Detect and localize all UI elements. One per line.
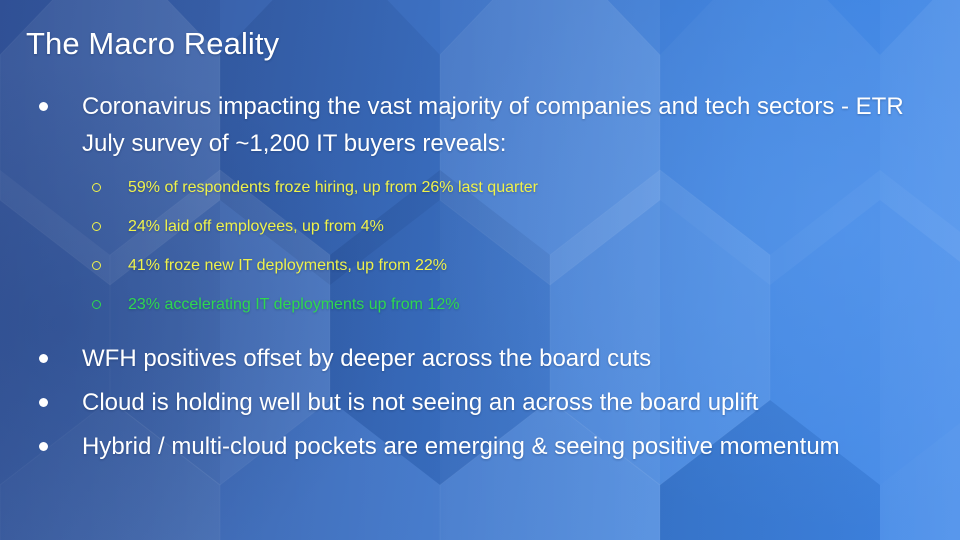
- sub-bullet-item-2: 24% laid off employees, up from 4%: [30, 211, 930, 242]
- sub-bullet-text: 23% accelerating IT deployments up from …: [128, 296, 459, 313]
- sub-bullet-item-1: 59% of respondents froze hiring, up from…: [30, 172, 930, 203]
- sub-bullet-text: 24% laid off employees, up from 4%: [128, 218, 384, 235]
- bullet-text: Cloud is holding well but is not seeing …: [82, 389, 758, 416]
- sub-bullet-ring-icon: [92, 300, 101, 309]
- bullet-dot-icon: [39, 398, 48, 407]
- sub-bullet-ring-icon: [92, 222, 101, 231]
- bullet-item-3: Cloud is holding well but is not seeing …: [30, 384, 930, 421]
- bullet-item-2: WFH positives offset by deeper across th…: [30, 340, 930, 377]
- sub-bullet-item-4: 23% accelerating IT deployments up from …: [30, 289, 930, 320]
- sub-bullet-ring-icon: [92, 261, 101, 270]
- bullet-item-4: Hybrid / multi-cloud pockets are emergin…: [30, 428, 930, 465]
- bullet-dot-icon: [39, 102, 48, 111]
- bullet-list: Coronavirus impacting the vast majority …: [30, 88, 930, 472]
- bullet-dot-icon: [39, 442, 48, 451]
- sub-bullet-ring-icon: [92, 183, 101, 192]
- presentation-slide: The Macro Reality Coronavirus impacting …: [0, 0, 960, 540]
- bullet-dot-icon: [39, 354, 48, 363]
- bullet-text: WFH positives offset by deeper across th…: [82, 345, 651, 372]
- slide-content: The Macro Reality Coronavirus impacting …: [0, 0, 960, 540]
- bullet-text: Coronavirus impacting the vast majority …: [82, 93, 904, 157]
- sub-bullet-list-1: 59% of respondents froze hiring, up from…: [30, 172, 930, 320]
- slide-title: The Macro Reality: [26, 25, 279, 63]
- sub-bullet-item-3: 41% froze new IT deployments, up from 22…: [30, 250, 930, 281]
- sub-bullet-text: 59% of respondents froze hiring, up from…: [128, 179, 538, 196]
- bullet-text: Hybrid / multi-cloud pockets are emergin…: [82, 433, 840, 460]
- sub-bullet-text: 41% froze new IT deployments, up from 22…: [128, 257, 447, 274]
- bullet-item-1: Coronavirus impacting the vast majority …: [30, 88, 930, 162]
